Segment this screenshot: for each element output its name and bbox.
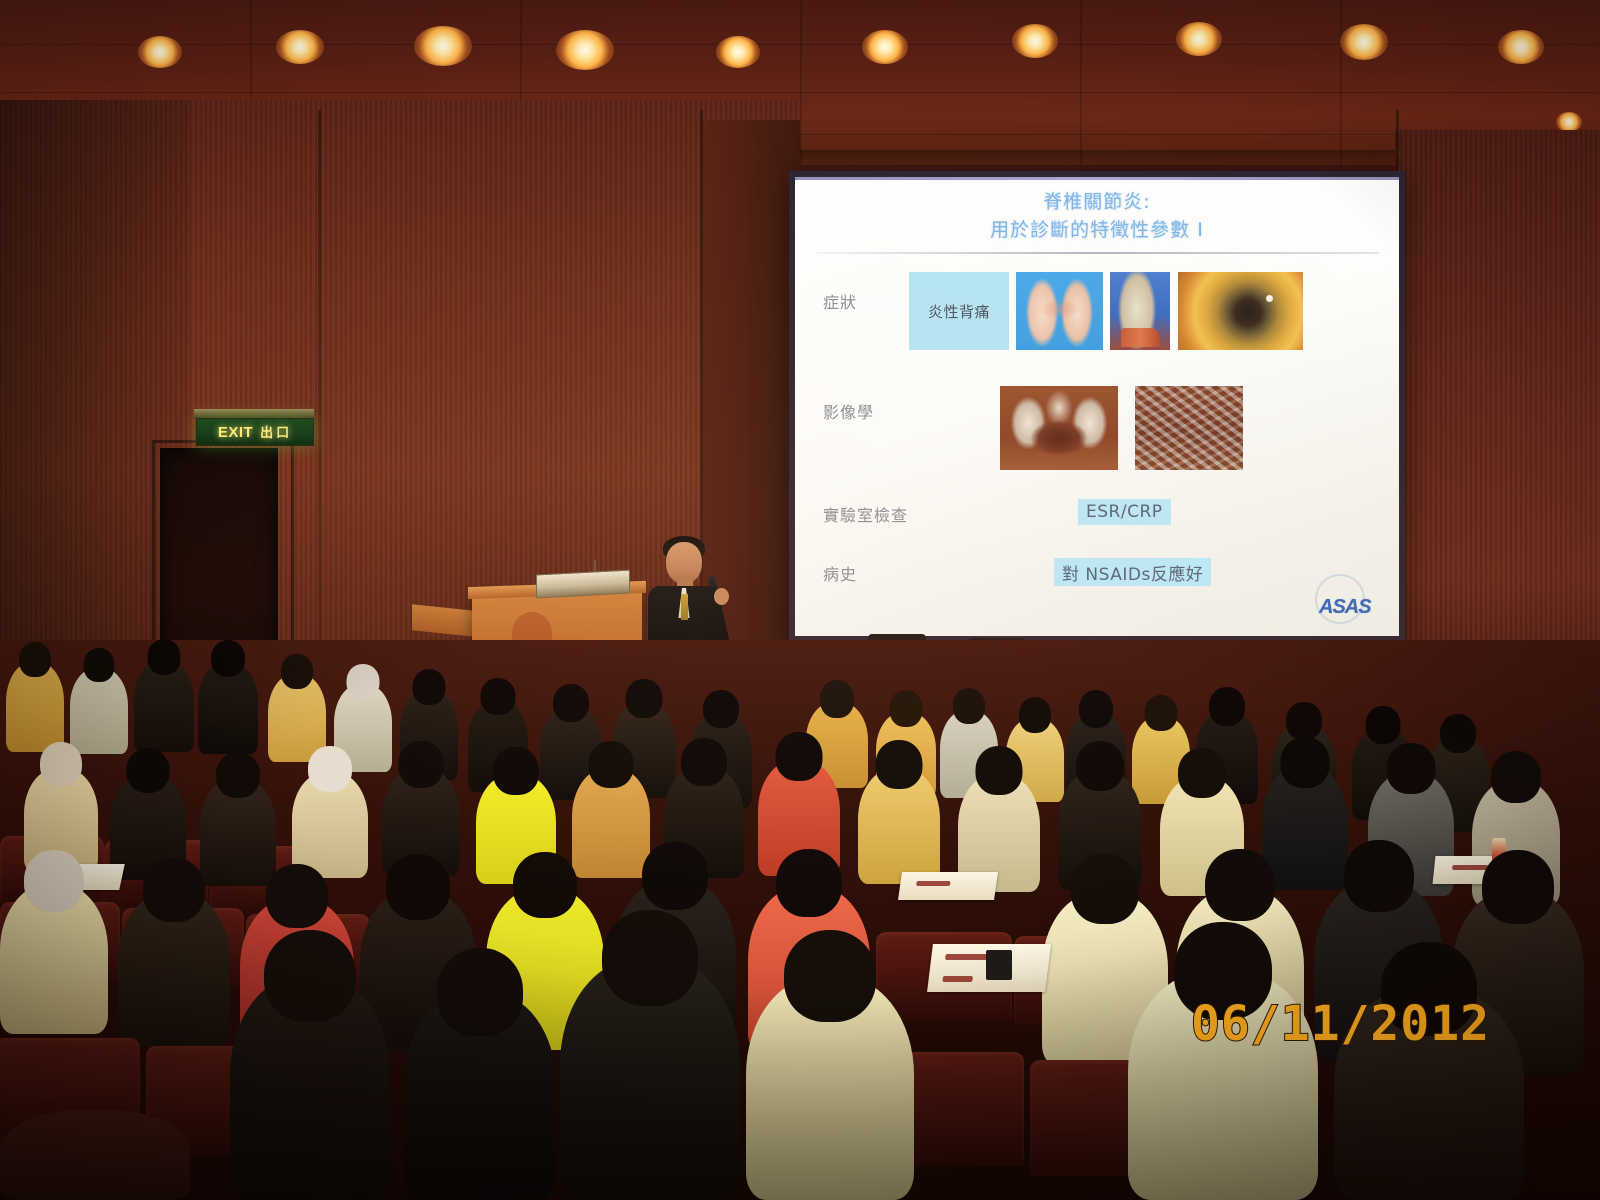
auditorium-photo: EXIT 出口 脊椎關節炎: 用於診斷的特徵性參數 I 症狀 炎性背痛 影像學 … <box>0 0 1600 1200</box>
speaker-head <box>666 542 702 584</box>
slide-row-label-lab: 實驗室檢查 <box>823 502 908 526</box>
asas-logo-text: ASAS <box>1319 596 1371 619</box>
audience-member <box>746 976 914 1200</box>
audience-area <box>0 640 1600 1200</box>
audience-member <box>200 778 276 886</box>
audience-member <box>572 768 650 878</box>
ceiling-light <box>716 36 760 68</box>
handout-paper <box>898 872 998 900</box>
exit-sign: EXIT 出口 <box>196 418 314 446</box>
ceiling-light <box>1498 30 1544 64</box>
ceiling-light <box>1176 22 1222 56</box>
ceiling-light <box>1340 24 1388 60</box>
audience-member <box>0 884 108 1034</box>
exit-sign-housing <box>194 409 314 418</box>
audience-member <box>292 772 368 878</box>
asas-logo: ASAS <box>1311 574 1385 624</box>
slide-title: 脊椎關節炎: 用於診斷的特徵性參數 I <box>795 189 1399 244</box>
slide-title-line2: 用於診斷的特徵性參數 I <box>795 217 1399 245</box>
sacroiliac-mri-image <box>1135 386 1243 470</box>
ceiling-light <box>862 30 908 64</box>
pelvis-xray-image <box>1000 386 1118 470</box>
knees-photo <box>1016 272 1103 350</box>
slide-highlight-nsaid-response: 對 NSAIDs反應好 <box>1054 558 1211 586</box>
slide-row-label-imaging: 影像學 <box>823 399 874 423</box>
audience-member <box>118 892 230 1046</box>
audience-member <box>1262 766 1348 890</box>
slide-highlight-esr-crp: ESR/CRP <box>1078 499 1171 525</box>
foot-photo <box>1110 272 1170 350</box>
audience-member <box>230 976 390 1200</box>
speaker-hand <box>714 588 729 605</box>
ceiling-light <box>1556 112 1582 132</box>
audience-member <box>6 662 64 752</box>
slide-title-line1: 脊椎關節炎: <box>795 189 1399 217</box>
speaker-tie <box>681 594 688 620</box>
projection-screen: 脊椎關節炎: 用於診斷的特徵性參數 I 症狀 炎性背痛 影像學 實驗室檢查 ES… <box>795 177 1399 636</box>
audience-member <box>0 1110 190 1200</box>
ceiling-light <box>1012 24 1058 58</box>
ceiling-light <box>138 36 182 68</box>
camera-date-stamp: 06/11/2012 <box>1191 996 1490 1052</box>
audience-member <box>858 768 940 884</box>
audience-member <box>70 668 128 754</box>
exit-sign-english: EXIT <box>218 425 253 440</box>
ceiling-light <box>276 30 324 64</box>
audience-member <box>560 958 740 1200</box>
mobile-phone <box>986 950 1012 980</box>
audience-member <box>134 660 194 752</box>
slide-top-border <box>795 177 1399 180</box>
ceiling-light <box>414 26 472 66</box>
slide-title-divider <box>817 252 1379 254</box>
slide-row-label-history: 病史 <box>823 561 857 585</box>
podium-sign <box>536 570 630 599</box>
slide-highlight-inflammatory-back-pain: 炎性背痛 <box>909 272 1009 350</box>
slide-row-label-symptoms: 症狀 <box>823 289 857 313</box>
eye-photo <box>1178 272 1303 350</box>
audience-member <box>404 992 556 1200</box>
audience-member <box>198 662 258 754</box>
exit-sign-chinese: 出口 <box>260 426 292 439</box>
ceiling-light <box>556 30 614 70</box>
